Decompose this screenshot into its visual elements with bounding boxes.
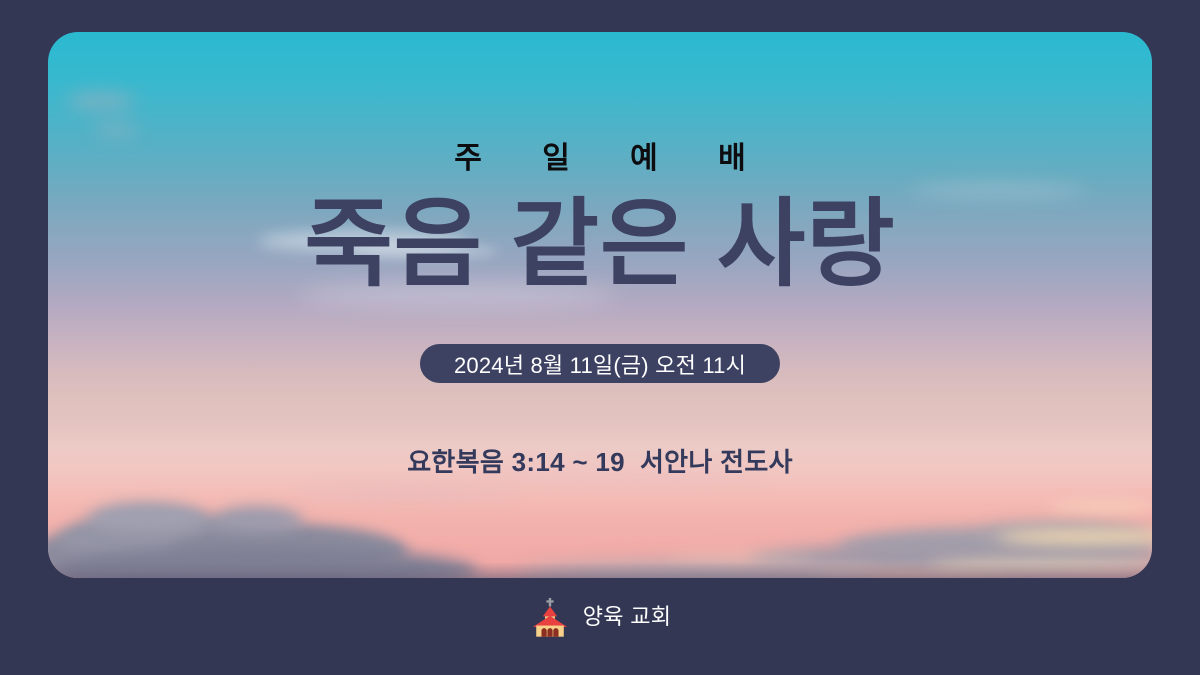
- service-datetime-label: 2024년 8월 11일(금) 오전 11시: [454, 348, 746, 380]
- banner-content: 주 일 예 배 죽음 같은 사랑 2024년 8월 11일(금) 오전 11시 …: [0, 0, 1200, 675]
- poster-root: 주 일 예 배 죽음 같은 사랑 2024년 8월 11일(금) 오전 11시 …: [0, 0, 1200, 675]
- service-type-eyebrow: 주 일 예 배: [0, 144, 1200, 174]
- scripture-and-speaker: 요한복음 3:14 ~ 19 서안나 전도사: [0, 442, 1200, 479]
- church-name-label: 양육 교회: [583, 606, 672, 628]
- sermon-title: 죽음 같은 사랑: [0, 192, 1200, 298]
- footer-brand: 양육 교회: [0, 596, 1200, 638]
- service-datetime-pill: 2024년 8월 11일(금) 오전 11시: [420, 344, 780, 383]
- church-icon: [529, 596, 571, 638]
